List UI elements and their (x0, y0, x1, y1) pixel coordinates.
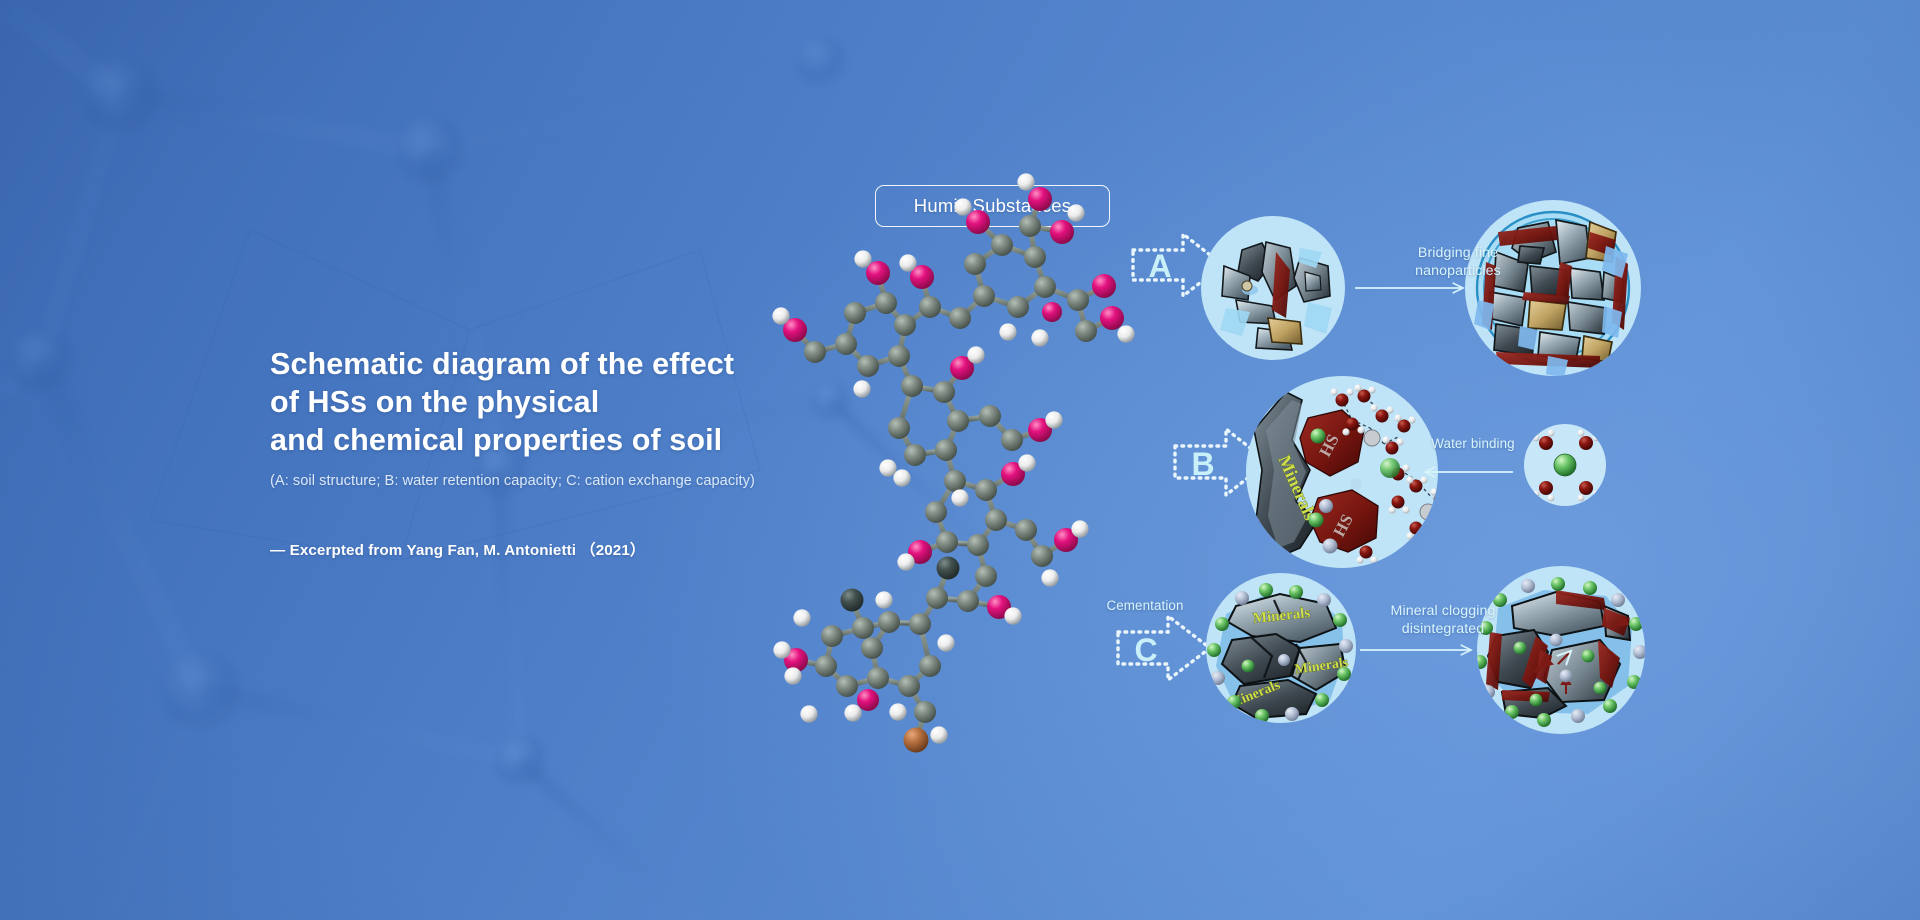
row-c-pre-label: Cementation (1080, 597, 1210, 615)
row-a-process-label: Bridging finenanoparticles (1358, 245, 1558, 280)
humic-molecule-model (772, 173, 1134, 752)
infographic-canvas: Schematic diagram of the effectof HSs on… (0, 0, 1920, 920)
row-b-process-label: Water binding (1413, 435, 1533, 453)
nitrogen-atom (841, 589, 864, 612)
step-marker-b-letter: B (1191, 446, 1214, 482)
nitrogen-atom (937, 557, 960, 580)
step-marker-c: C (1118, 616, 1210, 680)
row-a-group: A (1133, 200, 1641, 378)
diagram-graphics: A (0, 0, 1920, 920)
step-marker-a-letter: A (1148, 248, 1171, 284)
row-c-process-label: Mineral cloggingdisintegrated (1348, 603, 1538, 638)
sulfur-atom (904, 728, 929, 753)
row-b-group: B HS HS Minerals (1175, 376, 1606, 568)
step-marker-c-letter: C (1134, 632, 1157, 668)
bound-soil-aggregate (1474, 212, 1629, 378)
row-c-group: C Minerals Minerals Minera (1118, 566, 1647, 734)
